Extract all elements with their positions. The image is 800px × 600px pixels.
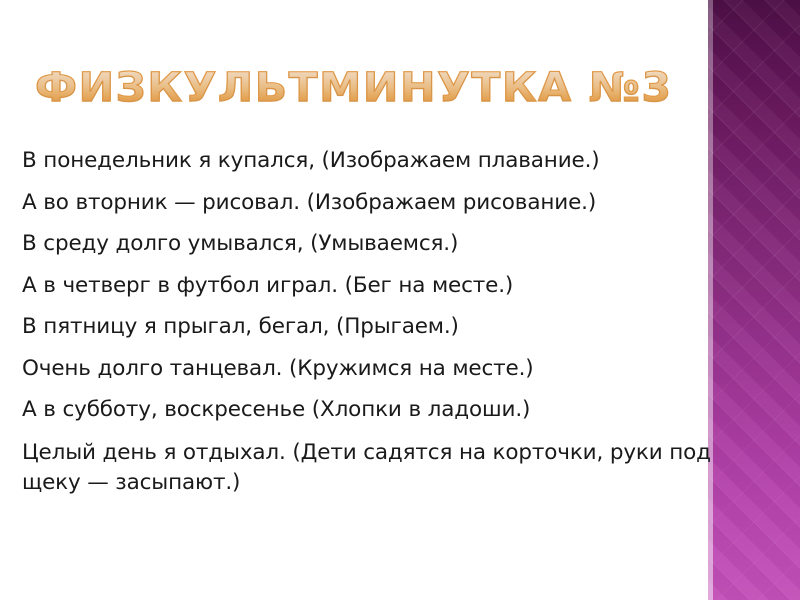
poem-line: Целый день я отдыхал. (Дети садятся на к…	[22, 438, 714, 498]
poem-line: А во вторник — рисовал. (Изображаем рисо…	[22, 182, 714, 224]
slide-canvas: ФИЗКУЛЬТМИНУТКА №3 В понедельник я купал…	[0, 0, 800, 600]
poem-line: А в субботу, воскресенье (Хлопки в ладош…	[22, 389, 714, 431]
decorative-sidebar	[708, 0, 800, 600]
title-container: ФИЗКУЛЬТМИНУТКА №3	[0, 68, 708, 108]
poem-line: В понедельник я купался, (Изображаем пла…	[22, 140, 714, 182]
poem-line: А в четверг в футбол играл. (Бег на мест…	[22, 265, 714, 307]
sidebar-diamond-texture	[708, 0, 800, 600]
poem-line: Очень долго танцевал. (Кружимся на месте…	[22, 348, 714, 390]
slide-title: ФИЗКУЛЬТМИНУТКА №3	[35, 68, 673, 108]
poem-text-block: В понедельник я купался, (Изображаем пла…	[22, 140, 714, 498]
poem-line: В среду долго умывался, (Умываемся.)	[22, 223, 714, 265]
poem-line: В пятницу я прыгал, бегал, (Прыгаем.)	[22, 306, 714, 348]
